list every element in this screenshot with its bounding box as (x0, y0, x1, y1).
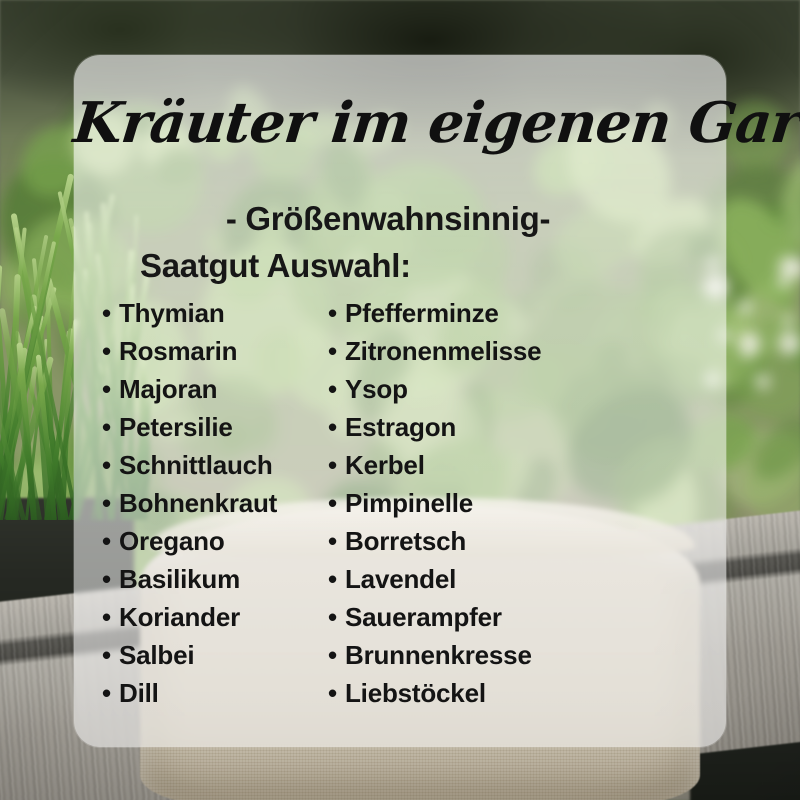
bullet-icon: • (102, 300, 119, 326)
herb-name: Brunnenkresse (345, 640, 532, 671)
bullet-icon: • (328, 338, 345, 364)
bullet-icon: • (328, 490, 345, 516)
list-item: •Dill (102, 678, 310, 716)
herb-name: Rosmarin (119, 336, 237, 367)
list-item: •Salbei (102, 640, 310, 678)
list-item: •Thymian (102, 298, 310, 336)
herb-name: Koriander (119, 602, 240, 633)
list-item: •Rosmarin (102, 336, 310, 374)
bullet-icon: • (328, 566, 345, 592)
herb-name: Pfefferminze (345, 298, 499, 329)
herb-name: Oregano (119, 526, 225, 557)
herb-name: Lavendel (345, 564, 456, 595)
list-item: •Oregano (102, 526, 310, 564)
bullet-icon: • (102, 414, 119, 440)
herb-name: Thymian (119, 298, 225, 329)
bullet-icon: • (328, 680, 345, 706)
list-item: •Sauerampfer (328, 602, 710, 640)
list-item: •Pimpinelle (328, 488, 710, 526)
list-item: •Lavendel (328, 564, 710, 602)
herb-name: Kerbel (345, 450, 425, 481)
herb-name: Dill (119, 678, 159, 709)
list-item: •Ysop (328, 374, 710, 412)
herb-name: Estragon (345, 412, 456, 443)
herb-name: Pimpinelle (345, 488, 473, 519)
bullet-icon: • (102, 604, 119, 630)
herb-name: Zitronenmelisse (345, 336, 541, 367)
herb-name: Majoran (119, 374, 217, 405)
herb-name: Salbei (119, 640, 194, 671)
herb-name: Borretsch (345, 526, 466, 557)
page-title: Kräuter im eigenen Garten (71, 95, 729, 151)
list-item: •Estragon (328, 412, 710, 450)
bullet-icon: • (328, 414, 345, 440)
bullet-icon: • (102, 528, 119, 554)
herb-name: Petersilie (119, 412, 233, 443)
herb-list-columns: •Thymian•Rosmarin•Majoran•Petersilie•Sch… (74, 298, 726, 716)
poster-subtitle: - Größenwahnsinnig- (74, 200, 726, 238)
bullet-icon: • (102, 680, 119, 706)
list-item: •Basilikum (102, 564, 310, 602)
bullet-icon: • (328, 642, 345, 668)
bullet-icon: • (328, 300, 345, 326)
list-item: •Liebstöckel (328, 678, 710, 716)
list-item: •Majoran (102, 374, 310, 412)
bullet-icon: • (102, 452, 119, 478)
seed-selection-label: Saatgut Auswahl: (140, 247, 411, 285)
bullet-icon: • (328, 604, 345, 630)
herb-name: Ysop (345, 374, 408, 405)
poster-content: Kräuter im eigenen Garten - Größenwahnsi… (74, 55, 726, 747)
herb-list-right-column: •Pfefferminze•Zitronenmelisse•Ysop•Estra… (310, 298, 710, 716)
bullet-icon: • (328, 452, 345, 478)
list-item: •Borretsch (328, 526, 710, 564)
poster-canvas: Kräuter im eigenen Garten - Größenwahnsi… (0, 0, 800, 800)
bullet-icon: • (328, 376, 345, 402)
herb-name: Basilikum (119, 564, 240, 595)
herb-list-left-column: •Thymian•Rosmarin•Majoran•Petersilie•Sch… (74, 298, 310, 716)
bullet-icon: • (328, 528, 345, 554)
list-item: •Bohnenkraut (102, 488, 310, 526)
list-item: •Koriander (102, 602, 310, 640)
list-item: •Zitronenmelisse (328, 336, 710, 374)
list-item: •Brunnenkresse (328, 640, 710, 678)
bullet-icon: • (102, 642, 119, 668)
bullet-icon: • (102, 566, 119, 592)
herb-name: Bohnenkraut (119, 488, 277, 519)
herb-name: Liebstöckel (345, 678, 486, 709)
list-item: •Pfefferminze (328, 298, 710, 336)
herb-name: Schnittlauch (119, 450, 273, 481)
herb-name: Sauerampfer (345, 602, 502, 633)
list-item: •Petersilie (102, 412, 310, 450)
bullet-icon: • (102, 490, 119, 516)
bullet-icon: • (102, 376, 119, 402)
bullet-icon: • (102, 338, 119, 364)
list-item: •Kerbel (328, 450, 710, 488)
list-item: •Schnittlauch (102, 450, 310, 488)
